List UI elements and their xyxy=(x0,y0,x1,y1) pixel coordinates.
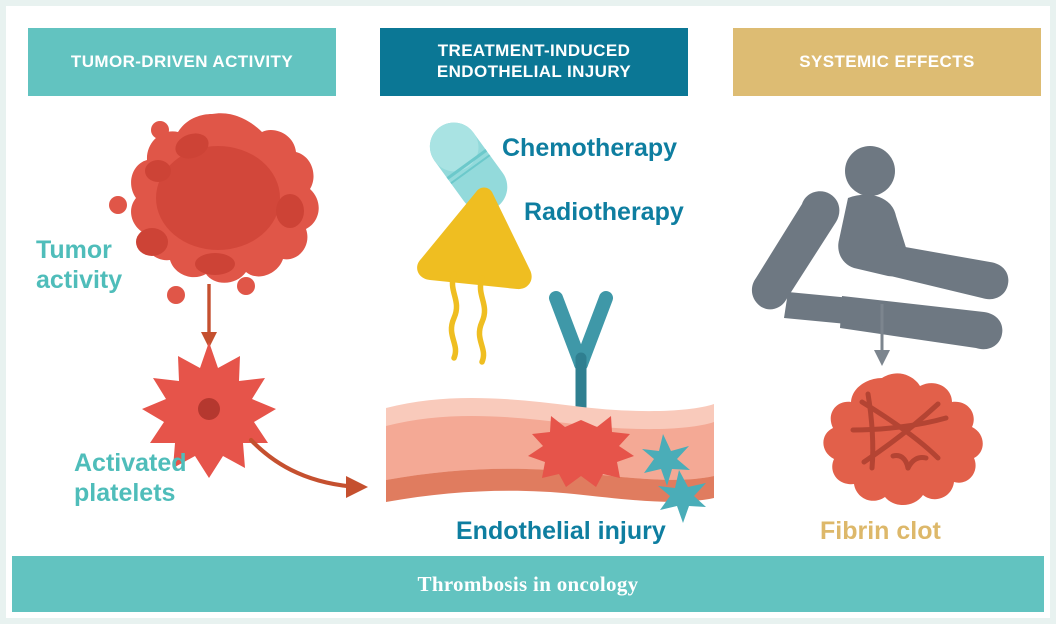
radiation-ray-icon xyxy=(451,274,456,358)
fibrin-clot-icon xyxy=(823,373,982,505)
tumor-vacuole xyxy=(276,194,304,228)
tumor-vacuole xyxy=(136,228,168,256)
radiation-triangle-icon xyxy=(417,188,532,363)
label-chemotherapy: Chemotherapy xyxy=(502,134,677,164)
patient-head xyxy=(845,146,895,196)
label-tumor-activity: Tumor activity xyxy=(36,236,122,295)
platelet-nucleus xyxy=(198,398,220,420)
figure-canvas: TUMOR-DRIVEN ACTIVITY TREATMENT-INDUCED … xyxy=(0,0,1056,624)
tumor-vacuole xyxy=(195,253,235,275)
radiation-ray-group xyxy=(451,274,484,362)
tumor-particle-icon xyxy=(237,277,255,295)
tumor-cell-icon xyxy=(131,113,319,283)
systemic-effects-illustration xyxy=(722,6,1052,566)
tumor-particle-icon xyxy=(109,196,127,214)
radiation-ray-icon xyxy=(479,278,484,362)
endothelial-injury-illustration xyxy=(378,6,708,566)
tumor-particle-icon xyxy=(167,286,185,304)
label-fibrin-clot: Fibrin clot xyxy=(820,517,941,547)
banner-label: Thrombosis in oncology xyxy=(418,572,639,597)
tumor-vacuole xyxy=(145,160,171,182)
tumor-nucleus xyxy=(156,146,280,250)
reclining-patient-icon xyxy=(752,146,1008,349)
label-radiotherapy: Radiotherapy xyxy=(524,198,684,228)
label-activated-platelets: Activated platelets xyxy=(74,449,187,508)
down-arrow-icon xyxy=(201,284,217,348)
curved-arrow-icon xyxy=(251,440,368,498)
thrombosis-in-oncology-banner: Thrombosis in oncology xyxy=(12,556,1044,612)
label-endothelial-injury: Endothelial injury xyxy=(456,517,666,547)
